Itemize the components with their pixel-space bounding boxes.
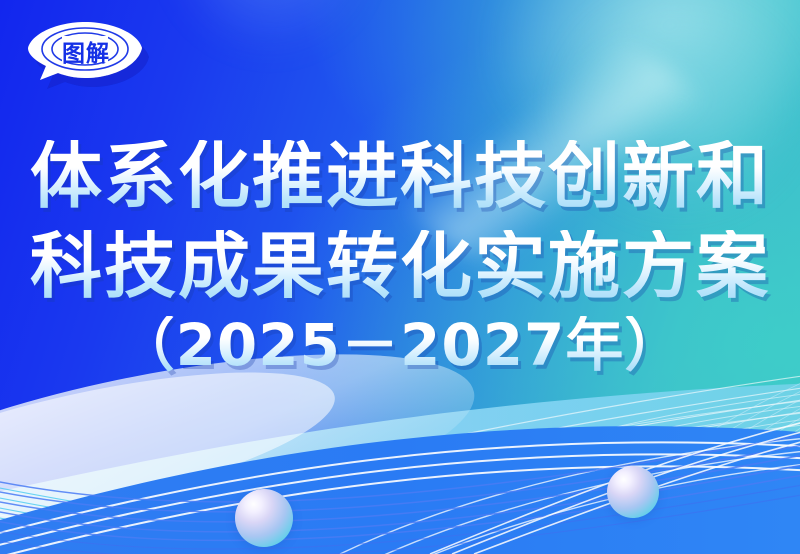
tujie-logo: 图解 bbox=[26, 18, 144, 84]
title-line-2: 科技成果转化实施方案 bbox=[0, 230, 800, 302]
decorative-sphere-left bbox=[235, 489, 293, 547]
page-title: 体系化推进科技创新和 科技成果转化实施方案 （2025－2027年） bbox=[0, 140, 800, 374]
logo-text: 图解 bbox=[26, 18, 144, 84]
decorative-sphere-right bbox=[607, 466, 659, 518]
poster-canvas: 图解 体系化推进科技创新和 科技成果转化实施方案 （2025－2027年） bbox=[0, 0, 800, 554]
title-line-1: 体系化推进科技创新和 bbox=[0, 140, 800, 212]
title-line-3-period: （2025－2027年） bbox=[0, 316, 800, 374]
